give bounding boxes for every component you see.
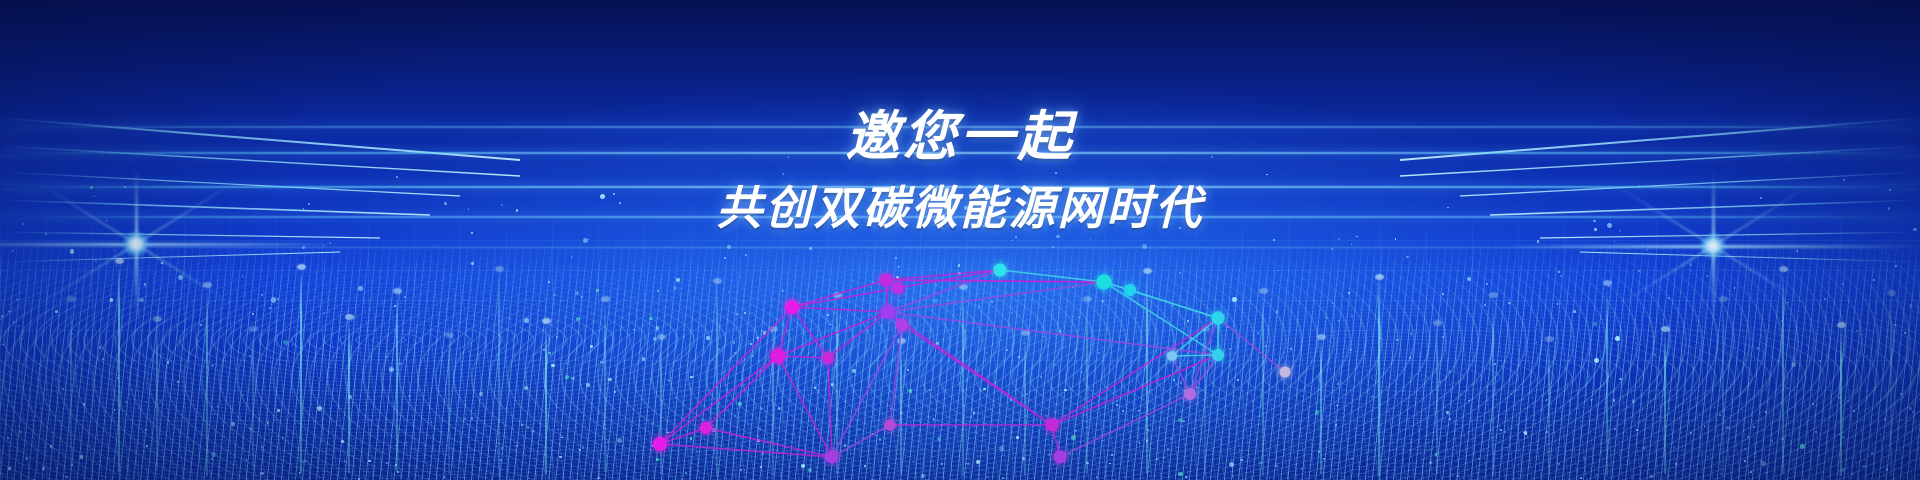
network-edge [792, 280, 886, 307]
network-node [1046, 419, 1059, 432]
network-edge [778, 312, 888, 356]
network-edge [706, 356, 778, 428]
network-node [1054, 451, 1067, 464]
network-node [826, 451, 839, 464]
network-edge [886, 280, 1104, 282]
network-edge [1060, 394, 1190, 457]
network-edge [1172, 355, 1218, 356]
network-edge [828, 358, 832, 457]
network-node [771, 349, 786, 364]
network-edge [1104, 282, 1218, 355]
network-node [880, 274, 893, 287]
network-edge [890, 325, 902, 425]
network-node [1212, 349, 1224, 361]
network-node [1097, 275, 1112, 290]
network-node [1167, 351, 1177, 361]
network-node [1124, 284, 1136, 296]
network-edge [1172, 356, 1190, 394]
network-edge [886, 270, 1000, 280]
network-edge [902, 325, 1052, 425]
network-edge [888, 282, 1104, 312]
network-edge [778, 356, 832, 457]
network-node [700, 422, 712, 434]
energy-network-dome [0, 0, 1920, 480]
network-edge [1000, 270, 1104, 282]
network-node [785, 300, 799, 314]
network-edge [888, 270, 1000, 312]
network-edge [898, 270, 1000, 288]
network-node [1212, 312, 1225, 325]
network-edge [792, 307, 828, 358]
network-edge [778, 356, 828, 358]
network-node [822, 352, 834, 364]
network-edge [1130, 290, 1218, 318]
network-node [885, 420, 896, 431]
hero-banner: 邀您一起 共创双碳微能源网时代 [0, 0, 1920, 480]
network-edge [792, 288, 898, 307]
network-node [653, 437, 667, 451]
network-edge [1218, 318, 1285, 372]
network-edge [828, 312, 888, 358]
network-edge [660, 307, 792, 444]
network-node [1280, 367, 1291, 378]
network-edge [792, 307, 888, 312]
network-edge [1052, 318, 1218, 425]
network-node [892, 282, 904, 294]
network-node [994, 264, 1007, 277]
network-node [1184, 388, 1196, 400]
network-node [896, 319, 908, 331]
network-node [881, 305, 895, 319]
